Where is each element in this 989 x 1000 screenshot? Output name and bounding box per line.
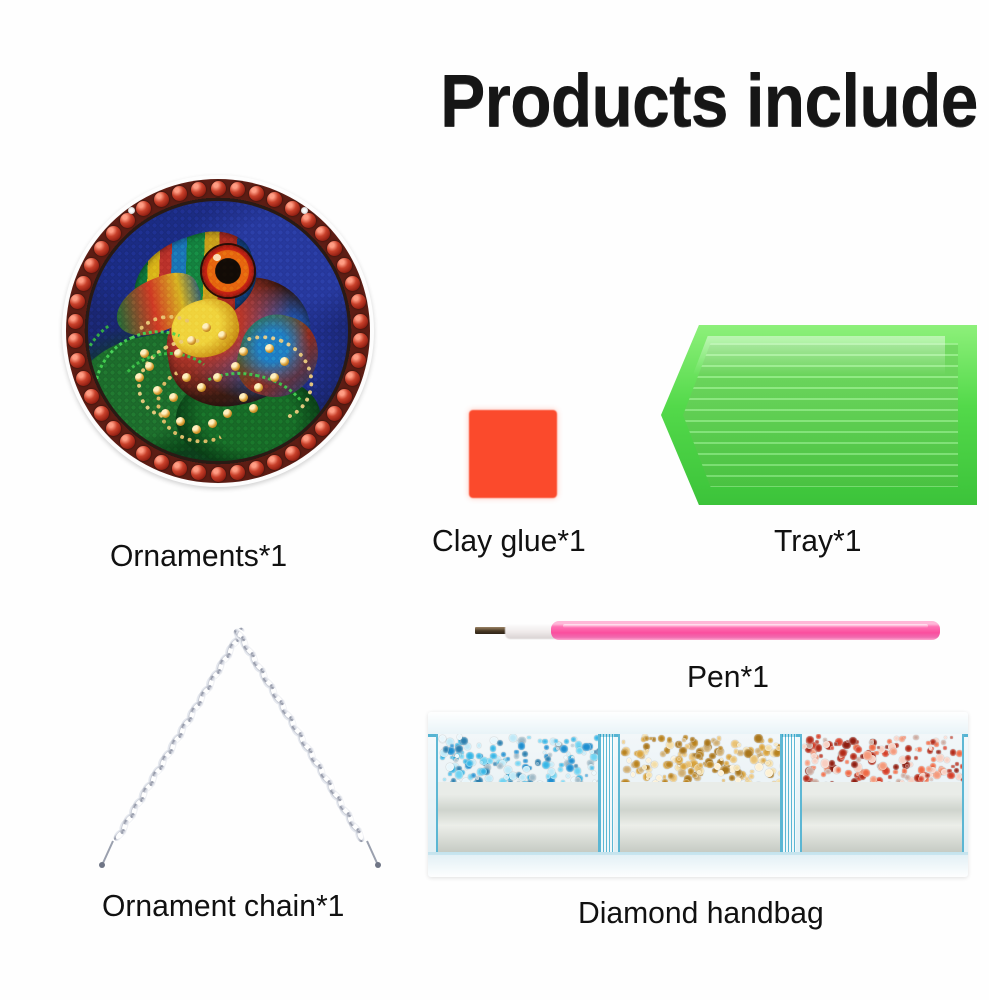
rhinestone bbox=[698, 763, 703, 768]
rhinestone bbox=[509, 734, 517, 742]
foil-backing-gold bbox=[620, 782, 780, 852]
rim-bead bbox=[315, 226, 330, 241]
tray-image bbox=[661, 325, 977, 505]
rhinestone bbox=[514, 750, 518, 754]
rhinestone bbox=[542, 739, 547, 744]
rim-bead bbox=[351, 353, 366, 368]
rhinestone bbox=[497, 740, 503, 746]
red-rhinestones bbox=[802, 734, 962, 782]
rhinestone bbox=[515, 761, 521, 767]
rhinestone bbox=[845, 760, 849, 764]
rhinestone bbox=[476, 753, 482, 759]
rhinestone bbox=[646, 772, 652, 778]
rhinestone bbox=[523, 766, 530, 773]
rhinestone bbox=[457, 734, 462, 739]
rim-bead bbox=[94, 241, 109, 256]
rhinestone bbox=[680, 763, 686, 769]
rhinestone bbox=[546, 774, 551, 779]
rhinestone bbox=[845, 770, 851, 776]
rhinestone bbox=[623, 766, 631, 774]
rhinestone bbox=[506, 757, 511, 762]
rim-bead bbox=[84, 258, 99, 273]
rhinestone bbox=[718, 770, 724, 776]
bead-texture-overlay bbox=[88, 201, 348, 461]
rim-bead bbox=[94, 406, 109, 421]
rim-bead bbox=[136, 446, 151, 461]
rim-bead bbox=[172, 186, 187, 201]
bag-top-crinkle bbox=[428, 712, 968, 734]
rhinestone bbox=[750, 770, 753, 773]
rim-bead bbox=[120, 213, 135, 228]
rhinestone bbox=[646, 749, 649, 752]
rim-bead bbox=[154, 192, 169, 207]
rhinestone bbox=[914, 756, 918, 760]
rim-bead bbox=[84, 389, 99, 404]
rhinestone bbox=[754, 734, 762, 742]
rim-bead bbox=[191, 182, 206, 197]
rhinestone bbox=[863, 751, 871, 759]
rhinestone bbox=[951, 765, 955, 769]
pen-image bbox=[475, 620, 940, 642]
rhinestone bbox=[454, 758, 458, 762]
rhinestone bbox=[943, 746, 947, 750]
rhinestone bbox=[556, 747, 559, 750]
rhinestone bbox=[737, 743, 741, 747]
rhinestone bbox=[519, 774, 526, 781]
tray-caption: Tray*1 bbox=[774, 523, 861, 559]
rhinestone bbox=[821, 772, 826, 777]
rhinestone bbox=[890, 748, 896, 754]
rhinestone bbox=[571, 744, 574, 747]
rhinestone bbox=[697, 770, 701, 774]
rim-bead bbox=[68, 333, 83, 348]
rhinestone bbox=[576, 747, 583, 754]
rhinestone bbox=[815, 744, 823, 752]
rhinestone bbox=[446, 763, 454, 771]
pearl-bead bbox=[213, 373, 222, 382]
rhinestone bbox=[704, 739, 712, 747]
pearl-bead bbox=[239, 347, 248, 356]
rhinestone bbox=[566, 774, 570, 778]
rhinestone bbox=[522, 751, 528, 757]
rhinestone bbox=[862, 769, 870, 777]
rhinestone bbox=[834, 742, 837, 745]
rhinestone bbox=[622, 740, 626, 744]
foil-backing-blue bbox=[438, 782, 598, 852]
pearl-bead bbox=[192, 425, 201, 434]
rhinestone bbox=[455, 770, 463, 778]
rhinestone bbox=[668, 773, 674, 779]
rhinestone bbox=[768, 738, 773, 743]
rhinestone bbox=[558, 767, 563, 772]
rhinestone bbox=[819, 754, 823, 758]
pearl-bead bbox=[174, 349, 183, 358]
rhinestone bbox=[582, 743, 590, 751]
rhinestone bbox=[518, 742, 526, 750]
diamond-handbag-image bbox=[428, 712, 968, 877]
rhinestone bbox=[913, 735, 919, 741]
tray-highlight bbox=[693, 336, 946, 376]
rhinestone bbox=[816, 734, 820, 738]
rhinestone bbox=[930, 739, 936, 745]
rhinestone bbox=[765, 761, 769, 765]
rhinestone bbox=[636, 750, 644, 758]
rhinestone bbox=[930, 778, 933, 781]
rhinestone bbox=[538, 739, 542, 743]
rhinestone bbox=[682, 738, 685, 741]
rhinestone bbox=[466, 760, 473, 767]
rhinestone bbox=[750, 755, 758, 763]
pearl-bead bbox=[161, 409, 170, 418]
rhinestone bbox=[755, 763, 763, 771]
rhinestone bbox=[749, 774, 754, 779]
rim-bead bbox=[106, 421, 121, 436]
rhinestone bbox=[501, 752, 506, 757]
rhinestone bbox=[829, 760, 835, 766]
rhinestone bbox=[905, 745, 912, 752]
rhinestone bbox=[527, 736, 530, 739]
clay-glue-caption: Clay glue*1 bbox=[432, 523, 586, 559]
rhinestone bbox=[803, 775, 810, 782]
rim-bead bbox=[315, 421, 330, 436]
rhinestone bbox=[776, 746, 780, 751]
ornament-chain-image bbox=[95, 625, 385, 870]
ornament-image bbox=[62, 175, 374, 487]
rhinestone bbox=[830, 746, 834, 750]
rhinestone bbox=[855, 746, 862, 753]
chain-link bbox=[113, 828, 127, 842]
ornament-caption: Ornaments*1 bbox=[110, 538, 287, 574]
rhinestone bbox=[523, 759, 528, 764]
rhinestone bbox=[544, 745, 549, 750]
pearl-bead bbox=[135, 373, 144, 382]
rhinestone bbox=[936, 754, 944, 762]
rhinestone bbox=[888, 775, 892, 779]
pearl-bead bbox=[265, 344, 274, 353]
rim-bead bbox=[285, 446, 300, 461]
ornament-face bbox=[88, 201, 348, 461]
rim-bead bbox=[68, 314, 83, 329]
pearl-bead bbox=[208, 419, 217, 428]
pearl-bead bbox=[249, 404, 258, 413]
rhinestone bbox=[564, 739, 569, 744]
rhinestone bbox=[487, 758, 492, 763]
rim-bead bbox=[211, 181, 226, 196]
rhinestone bbox=[688, 768, 694, 774]
rim-bead bbox=[106, 226, 121, 241]
bag-zip-line-1 bbox=[600, 734, 614, 852]
rhinestone bbox=[514, 753, 520, 759]
hanging-hole-left bbox=[128, 207, 135, 214]
rhinestone bbox=[559, 763, 564, 768]
pearl-bead bbox=[182, 373, 191, 382]
rhinestone bbox=[443, 778, 447, 782]
rhinestone bbox=[901, 773, 906, 778]
rim-bead bbox=[172, 461, 187, 476]
rhinestone bbox=[956, 750, 962, 757]
rhinestone bbox=[679, 747, 686, 754]
rhinestone bbox=[658, 735, 665, 742]
compartment-blue bbox=[436, 734, 600, 852]
rhinestone bbox=[849, 737, 857, 745]
rhinestone bbox=[802, 744, 807, 749]
hanging-hole-right bbox=[301, 207, 308, 214]
rhinestone bbox=[597, 749, 598, 755]
rhinestone bbox=[631, 772, 635, 776]
rhinestone bbox=[656, 775, 662, 781]
rhinestone bbox=[717, 736, 721, 740]
page-title: Products include bbox=[440, 58, 978, 143]
rhinestone bbox=[879, 762, 887, 770]
pearl-bead bbox=[187, 336, 196, 345]
rhinestone bbox=[947, 772, 954, 779]
rhinestone bbox=[917, 747, 921, 751]
rhinestone bbox=[651, 761, 658, 768]
rhinestone bbox=[734, 749, 739, 754]
rhinestone bbox=[633, 760, 641, 768]
foil-backing-red bbox=[802, 782, 962, 852]
rhinestone bbox=[944, 736, 947, 739]
rhinestone bbox=[455, 745, 462, 752]
rhinestone bbox=[836, 767, 842, 773]
rhinestone bbox=[925, 773, 930, 778]
pen-barrel bbox=[551, 621, 940, 640]
rim-bead bbox=[301, 213, 316, 228]
rim-bead bbox=[353, 314, 368, 329]
rhinestone bbox=[543, 751, 546, 754]
rhinestone bbox=[730, 756, 738, 764]
rhinestone bbox=[490, 745, 496, 751]
rhinestone bbox=[926, 741, 931, 746]
rhinestone bbox=[805, 760, 810, 765]
rhinestone bbox=[690, 737, 694, 741]
rhinestone bbox=[574, 767, 582, 775]
rhinestone bbox=[812, 758, 818, 764]
product-includes-poster: Products include bbox=[0, 0, 989, 1000]
rhinestone bbox=[944, 757, 950, 763]
rhinestone bbox=[644, 736, 649, 741]
rhinestone bbox=[585, 774, 588, 777]
ornament-chain-caption: Ornament chain*1 bbox=[102, 888, 344, 924]
clay-glue-image bbox=[469, 410, 557, 498]
pearl-bead bbox=[218, 331, 227, 340]
bag-zip-line-2 bbox=[782, 734, 796, 852]
rhinestone bbox=[592, 771, 596, 775]
rhinestone bbox=[443, 746, 450, 753]
rhinestone bbox=[915, 748, 918, 751]
rhinestone bbox=[947, 769, 952, 774]
rim-bead bbox=[154, 455, 169, 470]
compartment-red bbox=[800, 734, 964, 852]
rhinestone bbox=[564, 756, 567, 759]
rim-bead bbox=[230, 182, 245, 197]
rhinestone bbox=[594, 735, 598, 741]
rhinestone bbox=[956, 773, 962, 779]
blue-rhinestones bbox=[438, 734, 598, 782]
chain-link bbox=[355, 828, 366, 842]
rhinestone bbox=[545, 756, 551, 762]
rhinestone bbox=[660, 751, 666, 757]
rhinestone bbox=[497, 763, 503, 769]
rim-bead bbox=[351, 294, 366, 309]
rhinestone bbox=[665, 761, 672, 768]
pearl-bead bbox=[153, 386, 162, 395]
rhinestone bbox=[812, 766, 815, 769]
rhinestone bbox=[903, 736, 906, 739]
rhinestone bbox=[893, 770, 897, 774]
rhinestone bbox=[649, 737, 652, 740]
bag-bottom-edge bbox=[428, 852, 968, 877]
rhinestone bbox=[905, 764, 909, 768]
rhinestone bbox=[590, 750, 594, 754]
rhinestone bbox=[480, 768, 487, 775]
gold-rhinestones bbox=[620, 734, 780, 782]
rhinestone bbox=[477, 743, 481, 747]
rhinestone bbox=[839, 749, 847, 757]
rhinestone bbox=[745, 777, 749, 781]
rim-bead bbox=[76, 276, 91, 291]
pearl-bead bbox=[270, 373, 279, 382]
compartment-gold bbox=[618, 734, 782, 852]
diamond-handbag-caption: Diamond handbag bbox=[578, 895, 824, 931]
pearl-bead bbox=[169, 393, 178, 402]
rhinestone bbox=[821, 759, 829, 767]
rhinestone bbox=[677, 741, 683, 747]
rim-bead bbox=[345, 276, 360, 291]
rhinestone bbox=[560, 745, 568, 753]
rhinestone bbox=[936, 750, 940, 754]
rhinestone bbox=[590, 766, 593, 769]
rhinestone bbox=[480, 761, 483, 764]
rhinestone bbox=[931, 757, 936, 762]
rhinestone bbox=[941, 740, 946, 745]
rim-bead bbox=[249, 186, 264, 201]
rhinestone bbox=[485, 775, 492, 782]
pen-caption: Pen*1 bbox=[687, 659, 769, 695]
rhinestone bbox=[778, 771, 780, 776]
rhinestone bbox=[765, 769, 773, 777]
chain-svg bbox=[95, 625, 385, 870]
rhinestone bbox=[955, 762, 959, 766]
rim-bead bbox=[211, 467, 226, 482]
rhinestone bbox=[950, 736, 953, 739]
rhinestone bbox=[905, 755, 911, 761]
rhinestone bbox=[825, 769, 831, 775]
